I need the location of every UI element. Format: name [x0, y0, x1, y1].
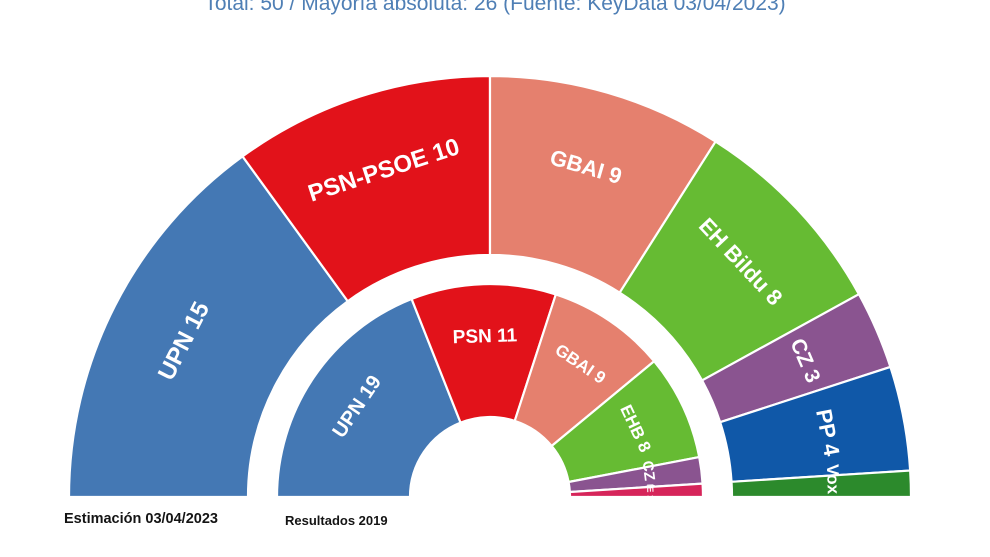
hemicycle-svg: UPN 15PSN-PSOE 10GBAI 9EH Bildu 8CZ 3PP … [0, 0, 990, 557]
seat-segment-label-ie: IE 1 [645, 484, 655, 500]
ring-resultados: UPN 19PSN 11GBAI 9EHB 8CZ 2IE 1 [277, 284, 703, 500]
hemicycle-chart: Total: 50 / Mayoría absoluta: 26 (Fuente… [0, 0, 990, 557]
seat-segment-label-psn: PSN 11 [452, 325, 517, 348]
seat-segment-label-vox: Vox 1 [823, 464, 843, 509]
inner-ring-caption: Resultados 2019 [285, 513, 388, 528]
outer-ring-caption: Estimación 03/04/2023 [64, 511, 218, 527]
